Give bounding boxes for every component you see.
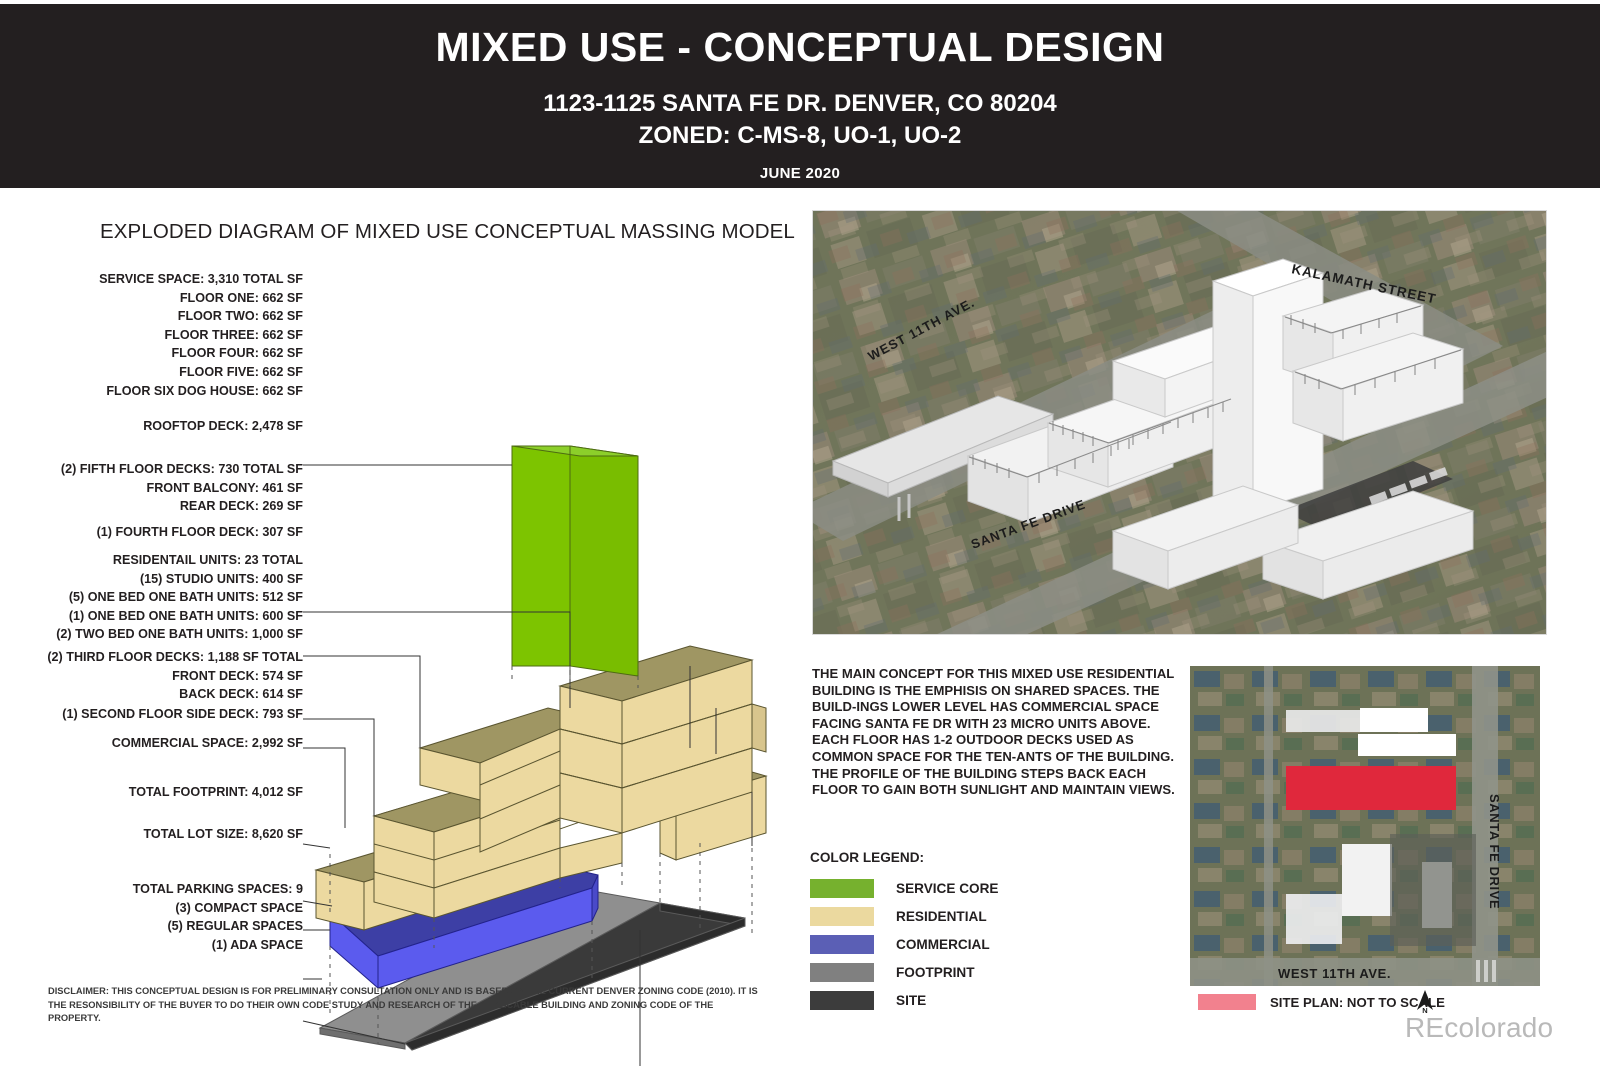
annotation-total-footprint: TOTAL FOOTPRINT: 4,012 SF bbox=[129, 783, 303, 802]
site-plan-legend: SITE PLAN: NOT TO SCALE bbox=[1198, 994, 1445, 1010]
disclaimer-text: DISCLAIMER: THIS CONCEPTUAL DESIGN IS FO… bbox=[48, 985, 768, 1026]
zoning-designation: ZONED: C-MS-8, UO-1, UO-2 bbox=[0, 120, 1600, 152]
legend-row-commercial: COMMERCIAL bbox=[810, 930, 998, 958]
annotation-commercial-space: COMMERCIAL SPACE: 2,992 SF bbox=[112, 734, 303, 753]
annotation-residential-units: RESIDENTAIL UNITS: 23 TOTAL (15) STUDIO … bbox=[56, 551, 303, 644]
legend-label-site: SITE bbox=[896, 993, 926, 1008]
legend-title: COLOR LEGEND: bbox=[810, 850, 998, 865]
legend-swatch-site bbox=[810, 991, 874, 1010]
concept-description: THE MAIN CONCEPT FOR THIS MIXED USE RESI… bbox=[812, 666, 1184, 799]
legend-row-residential: RESIDENTIAL bbox=[810, 902, 998, 930]
annotation-third-floor-decks: (2) THIRD FLOOR DECKS: 1,188 SF TOTAL FR… bbox=[47, 648, 303, 704]
legend-swatch-service-core bbox=[810, 879, 874, 898]
annotation-rooftop-deck: ROOFTOP DECK: 2,478 SF bbox=[143, 417, 303, 436]
title-banner: MIXED USE - CONCEPTUAL DESIGN 1123-1125 … bbox=[0, 4, 1600, 188]
legend-row-footprint: FOOTPRINT bbox=[810, 958, 998, 986]
exploded-diagram-panel: EXPLODED DIAGRAM OF MIXED USE CONCEPTUAL… bbox=[0, 188, 800, 1066]
page-title: MIXED USE - CONCEPTUAL DESIGN bbox=[0, 4, 1600, 69]
legend-label-commercial: COMMERCIAL bbox=[896, 937, 990, 952]
legend-row-site: SITE bbox=[810, 986, 998, 1014]
site-plan-label-santa-fe-drive: SANTA FE DRIVE bbox=[1487, 794, 1502, 909]
site-plan-subject-parcel bbox=[1286, 766, 1456, 810]
annotation-total-parking: TOTAL PARKING SPACES: 9 (3) COMPACT SPAC… bbox=[133, 880, 303, 954]
legend-label-residential: RESIDENTIAL bbox=[896, 909, 987, 924]
annotation-total-lot-size: TOTAL LOT SIZE: 8,620 SF bbox=[143, 825, 303, 844]
site-plan-label-west-11th-ave: WEST 11TH AVE. bbox=[1278, 966, 1391, 981]
annotation-fifth-floor-decks: (2) FIFTH FLOOR DECKS: 730 TOTAL SF FRON… bbox=[61, 460, 303, 516]
legend-row-service-core: SERVICE CORE bbox=[810, 874, 998, 902]
legend-label-service-core: SERVICE CORE bbox=[896, 881, 998, 896]
annotation-service-space: SERVICE SPACE: 3,310 TOTAL SF FLOOR ONE:… bbox=[99, 270, 303, 400]
annotation-second-floor-side-deck: (1) SECOND FLOOR SIDE DECK: 793 SF bbox=[62, 705, 303, 724]
recolorado-watermark: REcolorado bbox=[1405, 1012, 1553, 1044]
project-address: 1123-1125 SANTA FE DR. DENVER, CO 80204 bbox=[0, 88, 1600, 120]
site-plan-legend-swatch bbox=[1198, 994, 1256, 1010]
legend-label-footprint: FOOTPRINT bbox=[896, 965, 975, 980]
imagery-panel: KALAMATH STREET WEST 11TH AVE. SANTA FE … bbox=[800, 188, 1600, 1066]
legend-swatch-commercial bbox=[810, 935, 874, 954]
service-core-tower bbox=[512, 444, 638, 676]
legend-swatch-residential bbox=[810, 907, 874, 926]
legend-swatch-footprint bbox=[810, 963, 874, 982]
color-legend: COLOR LEGEND: SERVICE CORE RESIDENTIAL C… bbox=[810, 850, 998, 1014]
site-plan-map: SANTA FE DRIVE WEST 11TH AVE. bbox=[1190, 666, 1540, 986]
annotation-fourth-floor-deck: (1) FOURTH FLOOR DECK: 307 SF bbox=[97, 523, 303, 542]
north-arrow-icon: N bbox=[1412, 988, 1438, 1014]
aerial-context-render: KALAMATH STREET WEST 11TH AVE. SANTA FE … bbox=[812, 210, 1547, 635]
project-date: JUNE 2020 bbox=[0, 165, 1600, 182]
